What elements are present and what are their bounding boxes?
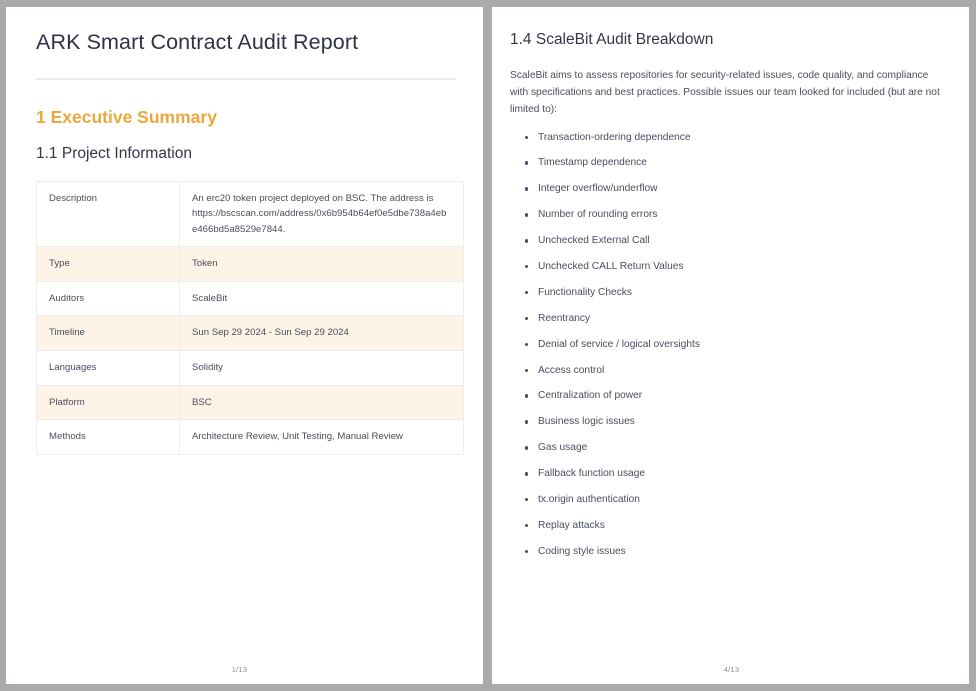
document-page-1[interactable]: ARK Smart Contract Audit Report 1 Execut… [6, 7, 483, 684]
audit-issue-list: Transaction-ordering dependence Timestam… [510, 133, 949, 557]
table-row: Auditors ScaleBit [37, 281, 464, 316]
list-item: Fallback function usage [510, 469, 949, 479]
project-information-table: Description An erc20 token project deplo… [36, 181, 464, 455]
table-row: Platform BSC [37, 385, 464, 420]
list-item: Unchecked CALL Return Values [510, 262, 949, 272]
table-cell-value: Sun Sep 29 2024 - Sun Sep 29 2024 [180, 316, 464, 351]
page-gutter [483, 0, 492, 691]
title-divider [36, 78, 456, 80]
table-row: Languages Solidity [37, 351, 464, 386]
page-title: ARK Smart Contract Audit Report [36, 29, 463, 57]
table-row: Timeline Sun Sep 29 2024 - Sun Sep 29 20… [37, 316, 464, 351]
list-item: Replay attacks [510, 521, 949, 531]
list-item: Gas usage [510, 443, 949, 453]
table-cell-value: Token [180, 247, 464, 282]
list-item: tx.origin authentication [510, 495, 949, 505]
table-row: Methods Architecture Review, Unit Testin… [37, 420, 464, 455]
document-page-4[interactable]: 1.4 ScaleBit Audit Breakdown ScaleBit ai… [492, 7, 969, 684]
table-cell-key: Type [37, 247, 180, 282]
table-cell-value: ScaleBit [180, 281, 464, 316]
list-item: Integer overflow/underflow [510, 184, 949, 194]
table-row: Type Token [37, 247, 464, 282]
page-number-footer: 1/13 [6, 665, 483, 674]
list-item: Functionality Checks [510, 288, 949, 298]
list-item: Unchecked External Call [510, 236, 949, 246]
table-cell-value: Solidity [180, 351, 464, 386]
list-item: Number of rounding errors [510, 210, 949, 220]
list-item: Denial of service / logical oversights [510, 340, 949, 350]
list-item: Reentrancy [510, 314, 949, 324]
list-item: Access control [510, 366, 949, 376]
intro-paragraph: ScaleBit aims to assess repositories for… [510, 67, 942, 118]
table-cell-key: Auditors [37, 281, 180, 316]
table-cell-value: An erc20 token project deployed on BSC. … [180, 181, 464, 247]
list-item: Coding style issues [510, 547, 949, 557]
table-cell-key: Platform [37, 385, 180, 420]
list-item: Timestamp dependence [510, 158, 949, 168]
table-cell-key: Description [37, 181, 180, 247]
table-cell-key: Timeline [37, 316, 180, 351]
table-cell-key: Methods [37, 420, 180, 455]
list-item: Business logic issues [510, 417, 949, 427]
page-number-footer: 4/13 [492, 665, 969, 674]
table-row: Description An erc20 token project deplo… [37, 181, 464, 247]
pdf-viewer[interactable]: ARK Smart Contract Audit Report 1 Execut… [0, 0, 976, 691]
section-heading-executive-summary: 1 Executive Summary [36, 106, 463, 129]
section-heading-project-information: 1.1 Project Information [36, 144, 463, 164]
list-item: Centralization of power [510, 391, 949, 401]
list-item: Transaction-ordering dependence [510, 133, 949, 143]
project-information-table-body: Description An erc20 token project deplo… [37, 181, 464, 454]
section-heading-scalebit-audit-breakdown: 1.4 ScaleBit Audit Breakdown [510, 30, 949, 50]
table-cell-value: Architecture Review, Unit Testing, Manua… [180, 420, 464, 455]
table-cell-key: Languages [37, 351, 180, 386]
table-cell-value: BSC [180, 385, 464, 420]
